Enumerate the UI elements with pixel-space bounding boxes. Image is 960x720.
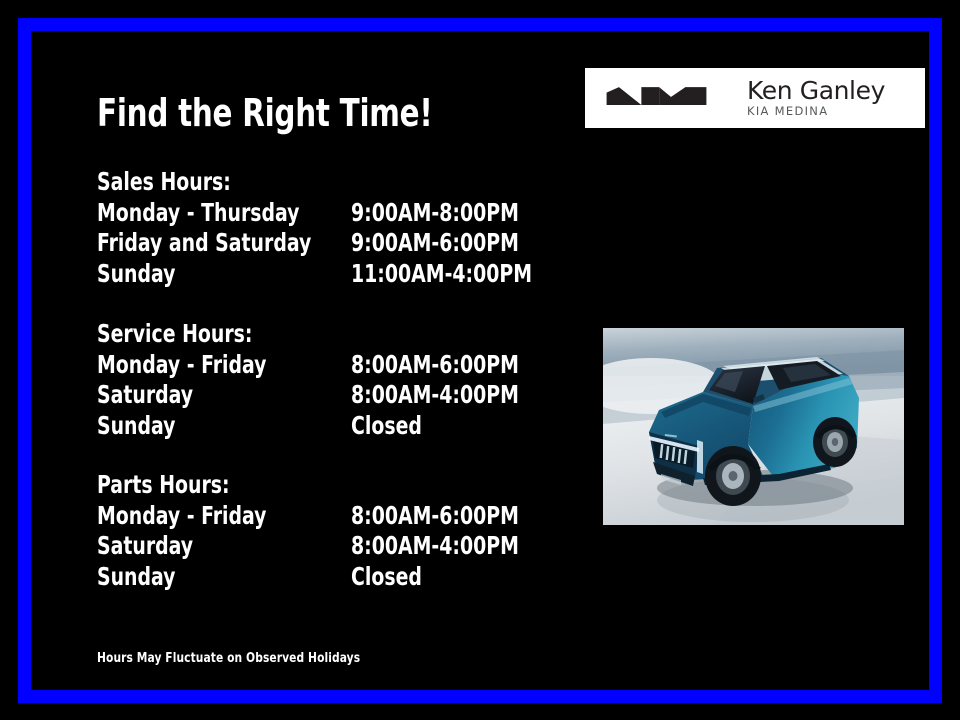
hours-day-label: Monday - Friday <box>97 501 266 532</box>
hours-day-label: Monday - Thursday <box>97 198 299 229</box>
hours-block-service: Service Hours: Monday - Friday 8:00AM-6:… <box>97 319 282 441</box>
hours-block-sales: Sales Hours: Monday - Thursday 9:00AM-8:… <box>97 167 256 289</box>
hours-row: Sunday 11:00AM-4:00PM <box>97 259 256 290</box>
dealer-subtitle: KIA MEDINA <box>747 106 885 118</box>
hours-row: Monday - Friday 8:00AM-6:00PM <box>97 501 255 532</box>
hours-row: Sunday Closed <box>97 411 282 442</box>
hours-day-label: Monday - Friday <box>97 350 266 381</box>
hours-day-label: Sunday <box>97 259 175 290</box>
hours-block-title-service: Service Hours: <box>97 319 252 350</box>
hours-row: Monday - Friday 8:00AM-6:00PM <box>97 350 282 381</box>
holiday-disclaimer: Hours May Fluctuate on Observed Holidays <box>97 650 360 666</box>
dealer-logo-text: Ken Ganley KIA MEDINA <box>747 78 885 118</box>
slide-canvas: Find the Right Time! Sales Hours: Monday… <box>0 0 960 720</box>
blue-border-frame: Find the Right Time! Sales Hours: Monday… <box>18 18 942 703</box>
hours-block-title-sales: Sales Hours: <box>97 167 231 198</box>
vehicle-photo <box>603 328 904 525</box>
hours-day-label: Sunday <box>97 411 175 442</box>
hours-block-parts: Parts Hours: Monday - Friday 8:00AM-6:00… <box>97 470 255 592</box>
hours-time-value: 8:00AM-6:00PM <box>351 501 519 532</box>
hours-time-value: 9:00AM-8:00PM <box>351 198 519 229</box>
hours-row: Friday and Saturday 9:00AM-6:00PM <box>97 228 256 259</box>
hours-time-value: 8:00AM-6:00PM <box>351 350 519 381</box>
hours-time-value: Closed <box>351 562 422 593</box>
page-title: Find the Right Time! <box>97 92 432 134</box>
hours-day-label: Saturday <box>97 531 193 562</box>
hours-row: Sunday Closed <box>97 562 255 593</box>
hours-time-value: 8:00AM-4:00PM <box>351 380 519 411</box>
hours-day-label: Sunday <box>97 562 175 593</box>
hours-time-value: Closed <box>351 411 422 442</box>
dealer-name: Ken Ganley <box>747 78 885 103</box>
hours-day-label: Friday and Saturday <box>97 228 311 259</box>
hours-row: Saturday 8:00AM-4:00PM <box>97 531 255 562</box>
kia-logo-mark <box>601 81 725 115</box>
hours-row: Saturday 8:00AM-4:00PM <box>97 380 282 411</box>
slide-content-area: Find the Right Time! Sales Hours: Monday… <box>31 31 929 690</box>
dealer-logo-plate: Ken Ganley KIA MEDINA <box>585 68 925 128</box>
hours-day-label: Saturday <box>97 380 193 411</box>
hours-block-title-parts: Parts Hours: <box>97 470 230 501</box>
hours-time-value: 9:00AM-6:00PM <box>351 228 519 259</box>
hours-row: Monday - Thursday 9:00AM-8:00PM <box>97 198 256 229</box>
hours-time-value: 8:00AM-4:00PM <box>351 531 519 562</box>
hours-time-value: 11:00AM-4:00PM <box>351 259 532 290</box>
